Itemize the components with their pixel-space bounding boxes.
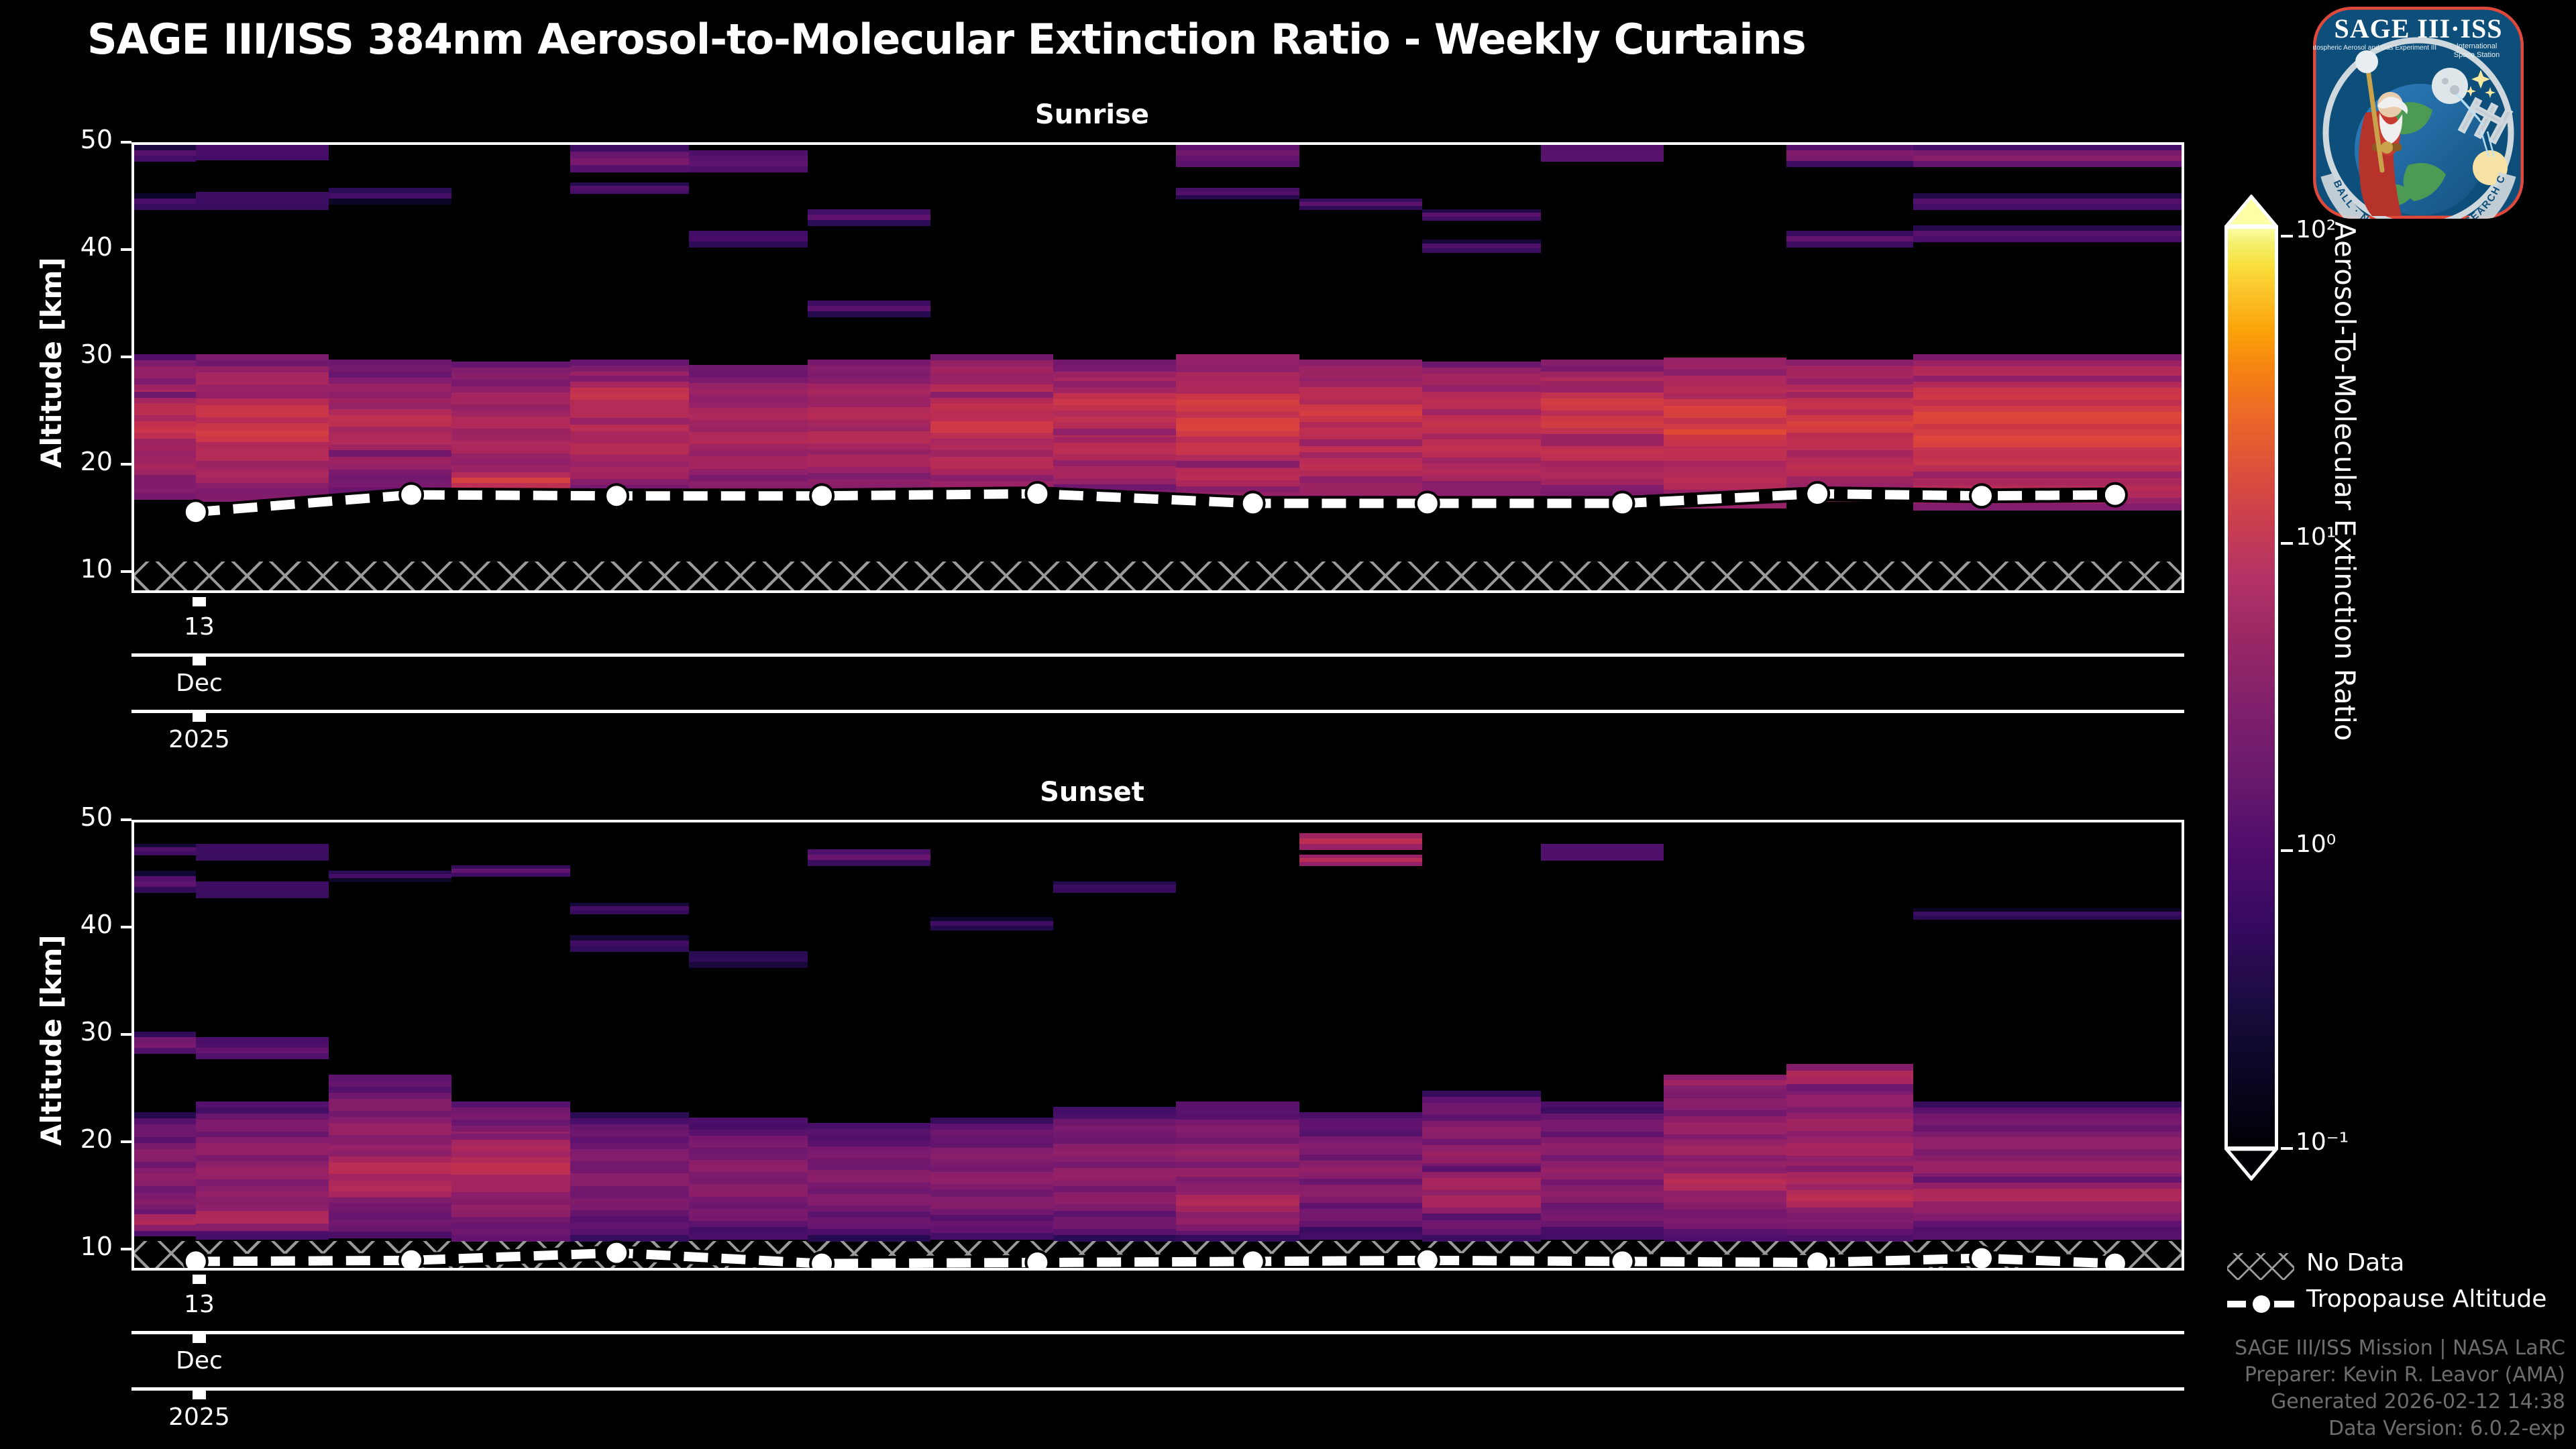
colorbar-tickmark [2281,542,2293,545]
colorbar-axis-label: Aerosol-To-Molecular Extinction Ratio [2328,221,2361,741]
tropopause-marker [605,1242,628,1265]
tropopause-marker [184,500,207,523]
page-title: SAGE III/ISS 384nm Aerosol-to-Molecular … [87,15,1711,64]
svg-text:International: International [2457,42,2498,50]
date-axis-tick [193,712,206,722]
tropopause-marker [1416,492,1439,515]
y-tick-mark [121,248,131,251]
colorbar-tickmark [2281,235,2293,237]
panel-title-sunrise: Sunrise [0,99,2184,130]
colorbar-tick-label: 10⁻¹ [2296,1128,2349,1156]
colorbar-tickmark [2281,1147,2293,1150]
date-axis-label-month: Dec [119,1347,280,1375]
y-axis-label-sunset: Altitude [km] [35,934,68,1146]
y-tick-label: 50 [52,125,113,154]
date-axis-tick [193,656,206,665]
y-tick-mark [121,570,131,573]
y-tick-mark [121,1140,131,1143]
panel-sunrise: Sunrise5040302010Altitude [km]13Dec2025 [0,94,2214,771]
tropopause-marker [1416,1249,1439,1271]
tropopause-marker [1806,482,1829,505]
tropopause-marker [1970,1247,1993,1270]
legend-item-no-data: No Data [2227,1249,2563,1285]
date-axis-label-day: 13 [119,1291,280,1318]
tropopause-marker [1242,492,1265,515]
svg-text:Stratospheric Aerosol and Gas: Stratospheric Aerosol and Gas Experiment… [2308,44,2436,52]
credit-line-version: Data Version: 6.0.2-exp [2235,1415,2565,1442]
tropopause-marker [605,484,628,507]
tropopause-marker [2104,1252,2127,1271]
date-axis-label-day: 13 [119,613,280,641]
tropopause-marker [1026,482,1049,505]
date-axis-tier-line [131,653,2184,657]
credit-line-generated: Generated 2026-02-12 14:38 [2235,1389,2565,1415]
tropopause-line-sunrise [134,145,2184,593]
legend: No Data Tropopause Altitude [2227,1249,2563,1322]
sage-iii-iss-mission-patch-logo: BALL · NASA LANGLEY RESEARCH CENTER · TA… [2308,5,2529,220]
tropopause-marker [1026,1251,1049,1271]
date-axis-tier-line [131,1387,2184,1391]
tropopause-marker [2104,484,2127,506]
date-axis-tick [193,1275,206,1284]
date-axis-tick [193,597,206,606]
colorbar-tick-label: 10⁰ [2296,830,2336,858]
legend-label: Tropopause Altitude [2306,1285,2546,1313]
credit-line-preparer: Preparer: Kevin R. Leavor (AMA) [2235,1362,2565,1389]
colorbar-gradient [2224,225,2278,1150]
date-axis-tick [193,1390,206,1399]
date-axis-label-year: 2025 [119,726,280,753]
y-tick-label: 50 [52,802,113,832]
panel-sunset: Sunset5040302010Altitude [km]13Dec2025 [0,771,2214,1449]
tropopause-marker [810,1252,833,1271]
legend-label: No Data [2306,1249,2404,1277]
y-axis-label-sunrise: Altitude [km] [35,257,68,468]
tropopause-line-sunset [134,822,2184,1271]
y-tick-mark [121,1033,131,1036]
tropopause-marker [1806,1251,1829,1271]
colorbar[interactable]: 10² 10¹ 10⁰ 10⁻¹ [2224,195,2278,1181]
date-axis-tick [193,1334,206,1343]
tropopause-marker [400,484,423,506]
tropopause-marker [1611,1250,1634,1271]
plot-area-sunrise[interactable] [131,142,2184,593]
y-tick-mark [121,1248,131,1250]
date-axis-tier-line [131,1331,2184,1334]
y-tick-mark [121,926,131,928]
y-tick-label: 10 [52,1232,113,1261]
tropopause-marker [810,484,833,507]
y-tick-mark [121,463,131,466]
svg-text:Space Station: Space Station [2454,51,2500,59]
y-tick-mark [121,356,131,358]
tropopause-marker [1611,492,1634,515]
legend-item-tropopause: Tropopause Altitude [2227,1285,2563,1322]
credits-block: SAGE III/ISS Mission | NASA LaRC Prepare… [2235,1335,2565,1442]
tropopause-marker [400,1249,423,1271]
plot-area-sunset[interactable] [131,820,2184,1271]
tropopause-marker [1242,1250,1265,1271]
y-tick-mark [121,818,131,821]
svg-text:SAGE III·ISS: SAGE III·ISS [2334,13,2502,44]
colorbar-extend-top-arrow [2224,195,2278,225]
panel-title-sunset: Sunset [0,777,2184,808]
tropopause-marker [1970,484,1993,507]
colorbar-extend-bottom-arrow [2224,1147,2278,1178]
no-data-hatch-swatch [2227,1253,2294,1280]
date-axis-label-year: 2025 [119,1403,280,1431]
credit-line-mission: SAGE III/ISS Mission | NASA LaRC [2235,1335,2565,1362]
colorbar-tickmark [2281,849,2293,852]
y-tick-mark [121,141,131,144]
date-axis-tier-line [131,710,2184,713]
date-axis-label-month: Dec [119,669,280,697]
tropopause-marker [184,1250,207,1271]
y-tick-label: 10 [52,554,113,584]
tropopause-line-swatch [2227,1289,2294,1316]
